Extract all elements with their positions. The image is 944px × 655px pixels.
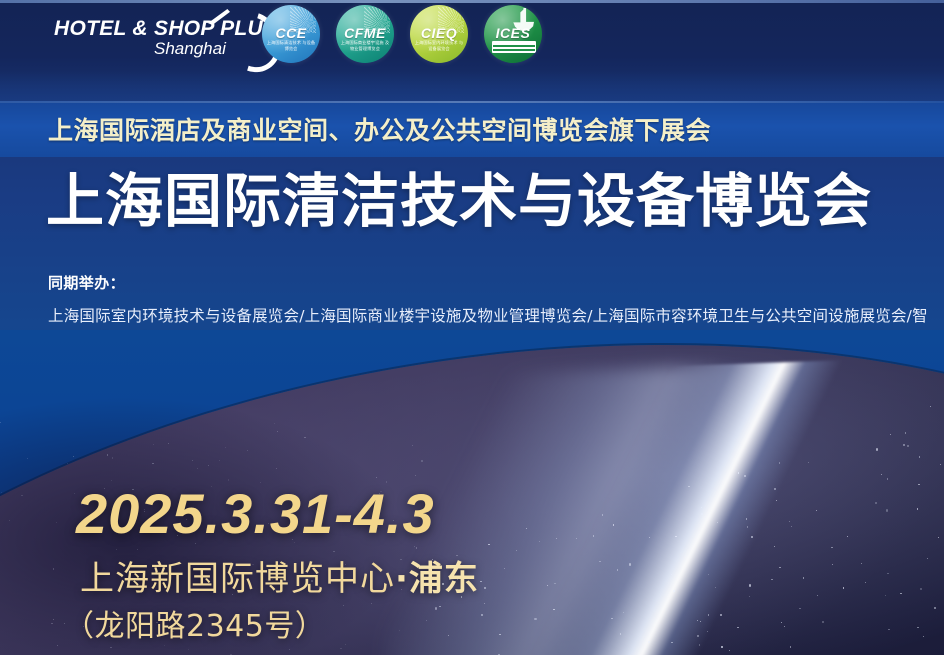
venue-separator-dot: ·	[395, 559, 409, 599]
badge-cieq[interactable]: CIEQ 上海国际室内环境技术 与设备展览会	[410, 5, 468, 63]
concurrent-events-label: 同期举办：	[48, 272, 908, 293]
venue-district: 浦东	[409, 559, 479, 599]
badge-subtitle: 上海国际室内环境技术 与设备展览会	[414, 40, 464, 51]
venue-name: 上海新国际博览中心	[80, 559, 395, 599]
parent-expo-band: 上海国际酒店及商业空间、办公及公共空间博览会旗下展会	[0, 101, 944, 157]
hotel-shop-plus-logo[interactable]: HOTEL & SHOP PLUS Shanghai	[48, 9, 256, 61]
event-venue: 上海新国际博览中心·浦东	[80, 562, 479, 596]
badge-subtitle: 上海国际商业楼宇设施 及物业管理博览会	[340, 40, 390, 51]
partner-badge-group: CCE 上海国际清洁技术 与设备博览会 CFME 上海国际商业楼宇设施 及物业管…	[262, 5, 542, 63]
page-title: 上海国际清洁技术与设备博览会	[46, 172, 872, 230]
badge-abbr: CCE	[262, 25, 320, 41]
badge-cfme[interactable]: CFME 上海国际商业楼宇设施 及物业管理博览会	[336, 5, 394, 63]
badge-text-plate	[492, 41, 536, 53]
badge-abbr: CFME	[336, 25, 394, 41]
header-bar: HOTEL & SHOP PLUS Shanghai CCE 上海国际清洁技术 …	[0, 3, 944, 101]
parent-expo-text: 上海国际酒店及商业空间、办公及公共空间博览会旗下展会	[48, 111, 711, 147]
event-venue-address: （龙阳路2345号）	[64, 612, 325, 642]
badge-abbr: ICES	[484, 25, 542, 41]
badge-abbr: CIEQ	[410, 25, 468, 41]
event-date: 2025.3.31-4.3	[76, 486, 435, 542]
poster-root: HOTEL & SHOP PLUS Shanghai CCE 上海国际清洁技术 …	[0, 0, 944, 655]
badge-subtitle: 上海国际清洁技术 与设备博览会	[266, 40, 316, 51]
logo-city-text: Shanghai	[154, 39, 226, 59]
badge-ices[interactable]: ICES	[484, 5, 542, 63]
badge-cce[interactable]: CCE 上海国际清洁技术 与设备博览会	[262, 5, 320, 63]
